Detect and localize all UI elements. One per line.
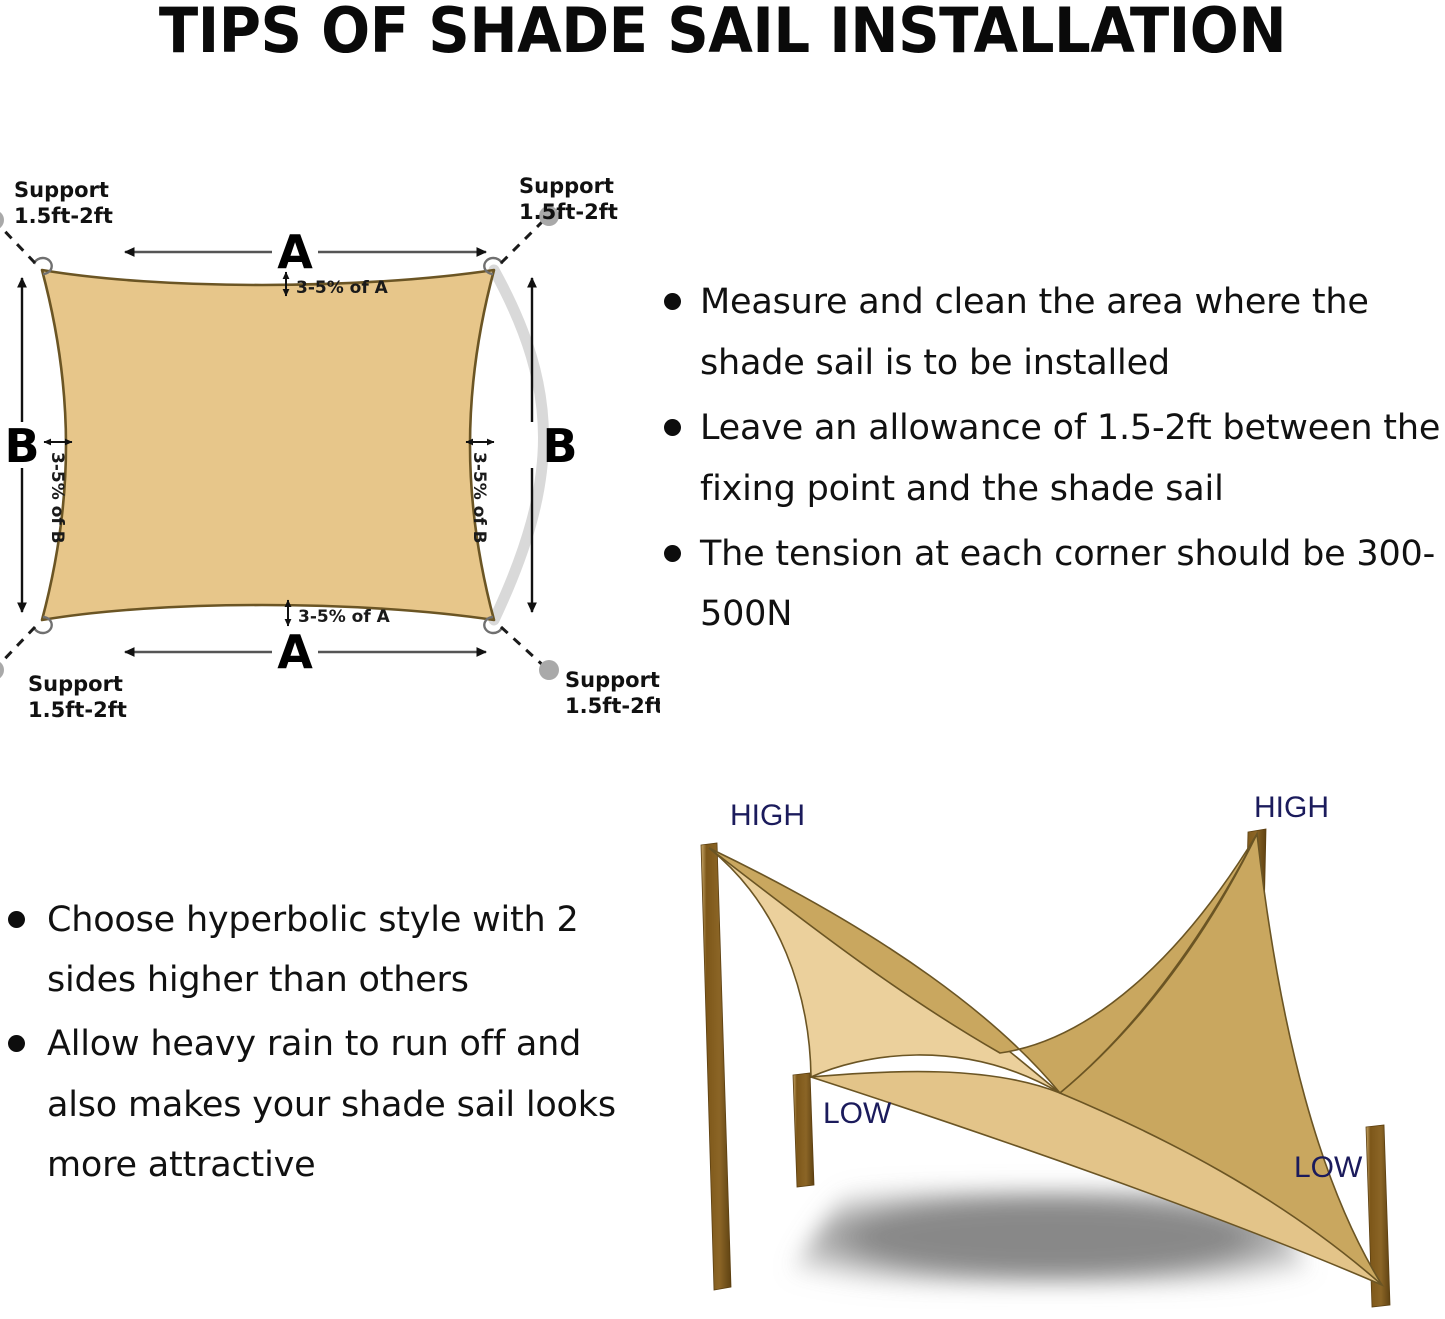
bullet-dot-icon [664,293,681,310]
support-br-line2: 1.5ft-2ft [565,694,660,718]
list-item-text: Choose hyperbolic style with 2 sides hig… [47,900,579,1000]
list-item: Choose hyperbolic style with 2 sides hig… [0,890,620,1010]
shade-sail-shape [42,270,494,620]
support-tr-line2: 1.5ft-2ft [519,200,618,224]
hyperbolic-style-tips-list: Choose hyperbolic style with 2 sides hig… [0,890,620,1199]
support-label-bottom-right: Support 1.5ft-2ft [565,668,660,718]
list-item-text: Measure and clean the area where the sha… [700,282,1369,383]
page-title: TIPS OF SHADE SAIL INSTALLATION [51,0,1395,67]
support-dot-bottom-right [539,660,559,680]
list-item-text: The tension at each corner should be 300… [700,534,1435,635]
curve-depth-b-right-label: 3-5% of B [469,452,489,544]
support-tl-line1: Support [14,178,109,202]
post-high-left [701,843,731,1290]
post-low-left [793,1073,814,1187]
support-br-line1: Support [565,668,660,692]
list-item-text: Leave an allowance of 1.5-2ft between th… [700,408,1440,509]
support-label-top-right: Support 1.5ft-2ft [519,174,618,224]
support-bl-line2: 1.5ft-2ft [28,698,127,722]
support-label-top-left: Support 1.5ft-2ft [14,178,113,228]
dim-label-a-top: A [277,225,313,279]
rectangle-sail-diagram: A A B B 3-5% of A [0,160,660,740]
support-label-bottom-left: Support 1.5ft-2ft [28,672,127,722]
curve-depth-b-left-label: 3-5% of B [47,452,67,544]
hyperbolic-sail-illustration: HIGH HIGH LOW LOW [660,785,1445,1319]
curve-depth-a-top-label: 3-5% of A [296,278,389,298]
bullet-dot-icon [664,419,681,436]
label-low-left: LOW [823,1097,892,1130]
label-high-left: HIGH [730,799,805,832]
bullet-dot-icon [8,911,25,928]
dim-label-a-bottom: A [277,625,313,679]
list-item: Measure and clean the area where the sha… [652,272,1445,394]
bullet-dot-icon [664,545,681,562]
dim-label-b-left: B [4,419,39,473]
list-item: Allow heavy rain to run off and also mak… [0,1014,620,1195]
infographic-page: TIPS OF SHADE SAIL INSTALLATION [0,0,1445,1319]
label-high-right: HIGH [1254,791,1329,824]
support-tl-line2: 1.5ft-2ft [14,204,113,228]
installation-tips-list: Measure and clean the area where the sha… [652,272,1445,649]
list-item: Leave an allowance of 1.5-2ft between th… [652,398,1445,520]
sail-guide-curve [494,270,544,620]
curve-depth-b-left: 3-5% of B [44,442,72,544]
dim-label-b-right: B [542,419,577,473]
support-tr-line1: Support [519,174,614,198]
support-dot-top-left [0,210,4,230]
curve-depth-a-bottom-label: 3-5% of A [298,607,391,627]
label-low-right: LOW [1294,1151,1363,1184]
support-bl-line1: Support [28,672,123,696]
curve-depth-b-right: 3-5% of B [466,442,494,544]
list-item-text: Allow heavy rain to run off and also mak… [47,1024,616,1184]
bullet-dot-icon [8,1035,25,1052]
support-dot-bottom-left [0,660,4,680]
list-item: The tension at each corner should be 300… [652,524,1445,646]
